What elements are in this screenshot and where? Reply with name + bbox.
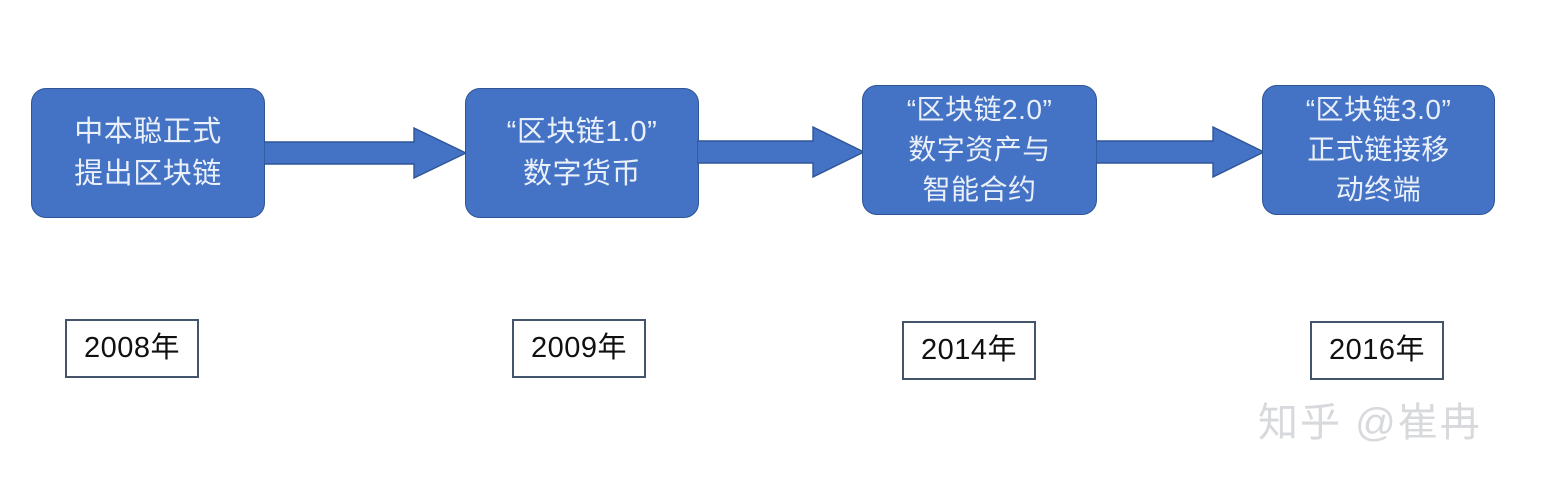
process-node-1[interactable]: 中本聪正式 提出区块链 bbox=[31, 88, 265, 218]
connector-arrow-1 bbox=[264, 127, 467, 179]
process-node-2-line-2: 数字货币 bbox=[523, 153, 641, 195]
process-node-2-line-1: “区块链1.0” bbox=[507, 111, 658, 153]
process-node-1-line-2: 提出区块链 bbox=[74, 153, 222, 195]
year-box-1[interactable]: 2008年 bbox=[65, 319, 199, 378]
process-node-4-line-1: “区块链3.0” bbox=[1306, 90, 1452, 130]
process-node-3[interactable]: “区块链2.0” 数字资产与 智能合约 bbox=[862, 85, 1097, 215]
year-label-1: 2008年 bbox=[84, 334, 180, 363]
process-node-1-line-1: 中本聪正式 bbox=[74, 111, 222, 153]
process-node-3-line-3: 智能合约 bbox=[922, 170, 1036, 210]
year-label-4: 2016年 bbox=[1329, 336, 1425, 365]
process-node-4-line-3: 动终端 bbox=[1336, 170, 1422, 210]
year-box-4[interactable]: 2016年 bbox=[1310, 321, 1444, 380]
watermark: 知乎 @崔冉 bbox=[1258, 403, 1482, 443]
process-node-4[interactable]: “区块链3.0” 正式链接移 动终端 bbox=[1262, 85, 1495, 215]
connector-arrow-2 bbox=[697, 126, 865, 178]
connector-arrow-3 bbox=[1096, 126, 1265, 178]
process-node-3-line-2: 数字资产与 bbox=[908, 130, 1051, 170]
diagram-canvas: 中本聪正式 提出区块链 “区块链1.0” 数字货币 “区块链2.0” 数字资产与… bbox=[0, 0, 1548, 482]
process-node-3-line-1: “区块链2.0” bbox=[907, 90, 1053, 130]
year-label-3: 2014年 bbox=[921, 336, 1017, 365]
year-label-2: 2009年 bbox=[531, 334, 627, 363]
process-node-4-line-2: 正式链接移 bbox=[1307, 130, 1450, 170]
year-box-3[interactable]: 2014年 bbox=[902, 321, 1036, 380]
process-node-2[interactable]: “区块链1.0” 数字货币 bbox=[465, 88, 699, 218]
year-box-2[interactable]: 2009年 bbox=[512, 319, 646, 378]
